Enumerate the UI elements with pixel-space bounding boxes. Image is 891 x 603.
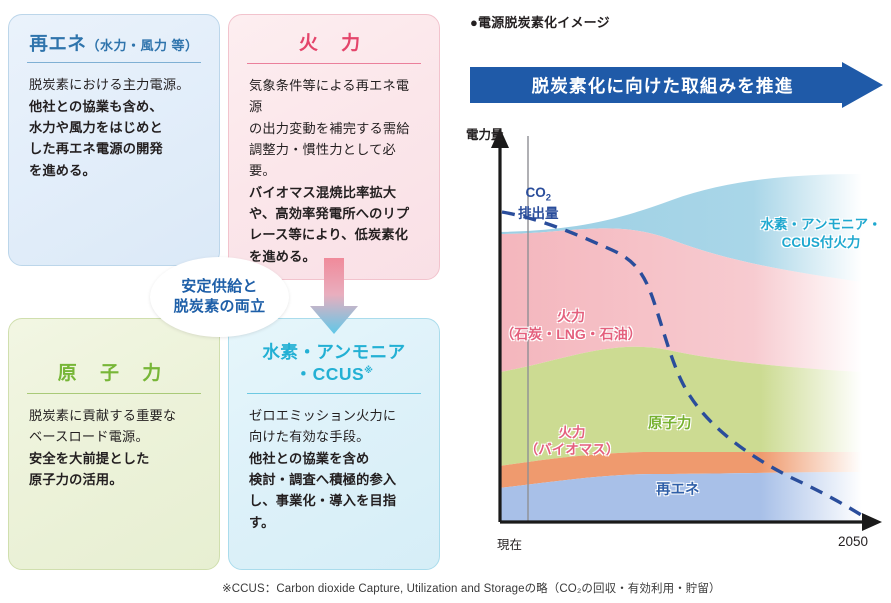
card-thermal-line: の出力変動を補完する需給	[249, 118, 419, 139]
card-renewable-title-main: 再エネ	[29, 33, 86, 54]
x-axis-arrowhead	[862, 513, 882, 531]
energy-mix-area-chart	[462, 122, 887, 562]
card-nuclear-power[interactable]: 原 子 力 脱炭素に貢献する重要な ベースロード電源。 安全を大前提とした 原子…	[8, 318, 220, 570]
card-nuclear-line: 原子力の活用。	[29, 469, 199, 490]
flow-down-arrow-icon	[306, 258, 362, 336]
card-renewable-line: 水力や風力をはじめと	[29, 117, 199, 138]
banner-label: 脱炭素化に向けた取組みを推進	[470, 62, 855, 108]
card-renewable-title: 再エネ（水力・風力 等）	[9, 15, 219, 55]
card-thermal-line: 調整力・慣性力として必要。	[249, 139, 419, 182]
card-thermal-power[interactable]: 火 力 気象条件等による再エネ電源 の出力変動を補完する需給 調整力・慣性力とし…	[228, 14, 440, 280]
card-renewable-line: 他社との協業も含め、	[29, 96, 199, 117]
card-thermal-line: 気象条件等による再エネ電源	[249, 75, 419, 118]
card-thermal-line: レース等により、低炭素化	[249, 224, 419, 245]
card-nuclear-line: ベースロード電源。	[29, 426, 199, 447]
card-hydrogen-line: 他社との協業を含め	[249, 448, 419, 469]
card-hydrogen-footnote-mark: ※	[364, 365, 373, 375]
footnote: ※CCUS：Carbon dioxide Capture, Utilizatio…	[222, 580, 721, 596]
card-hydrogen-divider	[247, 393, 421, 394]
card-hydrogen-ammonia-ccus[interactable]: 水素・アンモニア ・CCUS※ ゼロエミッション火力に 向けた有効な手段。 他社…	[228, 318, 440, 570]
card-nuclear-line: 安全を大前提とした	[29, 448, 199, 469]
card-hydrogen-title-line1: 水素・アンモニア	[229, 342, 439, 364]
card-renewable-body: 脱炭素における主力電源。 他社との協業も含め、 水力や風力をはじめと した再エネ…	[29, 74, 199, 181]
center-badge-line1: 安定供給と	[174, 277, 266, 297]
center-badge-line2: 脱炭素の両立	[174, 297, 266, 317]
card-nuclear-body: 脱炭素に貢献する重要な ベースロード電源。 安全を大前提とした 原子力の活用。	[29, 405, 199, 491]
card-renewable-title-sub: （水力・風力 等）	[86, 38, 198, 53]
card-renewable-line: を進める。	[29, 160, 199, 181]
card-nuclear-line: 脱炭素に貢献する重要な	[29, 405, 199, 426]
card-hydrogen-line: ゼロエミッション火力に	[249, 405, 419, 426]
y-axis-arrowhead	[491, 128, 509, 148]
card-thermal-body: 気象条件等による再エネ電源 の出力変動を補完する需給 調整力・慣性力として必要。…	[249, 75, 419, 267]
card-renewable-energy[interactable]: 再エネ（水力・風力 等） 脱炭素における主力電源。 他社との協業も含め、 水力や…	[8, 14, 220, 266]
card-renewable-line: した再エネ電源の開発	[29, 138, 199, 159]
card-thermal-line: や、高効率発電所へのリプ	[249, 203, 419, 224]
center-badge: 安定供給と 脱炭素の両立	[151, 258, 288, 336]
card-thermal-line: バイオマス混焼比率拡大	[249, 182, 419, 203]
card-thermal-title: 火 力	[229, 15, 439, 56]
card-hydrogen-line: し、事業化・導入を目指す。	[249, 490, 419, 533]
card-renewable-divider	[27, 62, 201, 63]
card-renewable-line: 脱炭素における主力電源。	[29, 74, 199, 95]
card-hydrogen-body: ゼロエミッション火力に 向けた有効な手段。 他社との協業を含め 検討・調査へ積極…	[249, 405, 419, 533]
card-hydrogen-line: 検討・調査へ積極的参入	[249, 469, 419, 490]
card-hydrogen-title-line2: ・CCUS※	[229, 364, 439, 386]
card-nuclear-divider	[27, 393, 201, 394]
card-hydrogen-line: 向けた有効な手段。	[249, 426, 419, 447]
card-thermal-divider	[247, 63, 421, 64]
panel-title: ●電源脱炭素化イメージ	[470, 12, 610, 31]
